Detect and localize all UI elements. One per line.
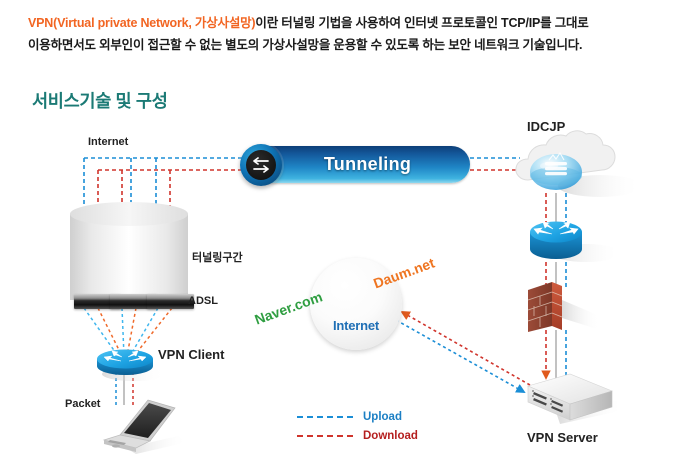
vpn-server-icon [528,374,624,424]
bidirectional-arrows-glyph [250,156,272,174]
internet-globe-label: Internet [310,318,402,333]
tunnel-to-cloud-lines [470,158,520,170]
legend-label-download: Download [363,430,418,442]
firewall-icon [528,282,600,332]
legend-item-upload: Upload [297,407,437,426]
idcjp-router-icon [530,222,620,263]
vpn-client-label: VPN Client [158,347,224,362]
intro-line1-rest: 이란 터널링 기법을 사용하여 인터넷 프로토콜인 TCP/IP를 그대로 [255,16,588,30]
legend: Upload Download [297,407,437,445]
intro-line2: 이용하면서도 외부인이 접근할 수 없는 별도의 가상사설망을 운용할 수 있도… [28,38,582,52]
laptop-icon [104,400,188,454]
bidirectional-arrows-icon [246,150,276,180]
legend-item-download: Download [297,426,437,445]
legend-label-upload: Upload [363,411,402,423]
daum-label: Daum.net [371,255,436,292]
adsl-label: ADSL [188,295,218,307]
diagram-page: VPN(Virtual private Network, 가상사설망)이란 터널… [0,0,680,474]
packet-label: Packet [65,398,100,410]
section-heading: 서비스기술 및 구성 [32,88,168,113]
globe-server-lines [396,312,530,392]
download-dash-icon [297,435,353,437]
intro-paragraph: VPN(Virtual private Network, 가상사설망)이란 터널… [28,12,648,56]
tunneling-knob [240,144,282,186]
tunnel-zone-cylinder [70,214,188,300]
client-to-laptop-lines [116,372,133,405]
upload-dash-icon [297,416,353,418]
vpn-client-router-icon [97,350,166,382]
adsl-modem-3 [147,294,194,309]
vpn-server-label: VPN Server [527,430,598,445]
intro-highlight: VPN(Virtual private Network, 가상사설망) [28,16,255,30]
idcjp-cloud-icon [516,131,642,197]
tunnel-zone-label: 터널링구간 [192,249,243,265]
internet-label: Internet [88,136,128,148]
idcjp-label: IDCJP [527,119,565,134]
idcjp-vertical-lines [546,193,566,382]
